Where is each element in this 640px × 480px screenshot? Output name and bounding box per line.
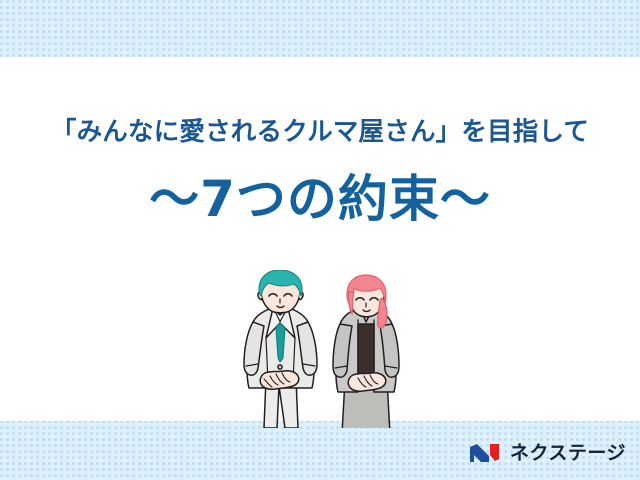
female-clasped-hands bbox=[348, 373, 386, 392]
staff-illustration-svg bbox=[236, 270, 416, 428]
two-bowing-staff-illustration bbox=[236, 270, 416, 428]
nexstage-n-logo-icon bbox=[469, 441, 503, 465]
brand-logo: ネクステージ bbox=[469, 440, 626, 466]
brand-wordmark-text: ネクステージ bbox=[510, 444, 626, 463]
headline-block: 「みんなに愛されるクルマ屋さん」を目指して 〜7つの約束〜 bbox=[0, 57, 640, 224]
headline-secondary-text: 〜7つの約束〜 bbox=[0, 174, 640, 224]
female-staff-figure bbox=[333, 275, 399, 428]
male-clasped-hands bbox=[260, 371, 299, 390]
promo-banner: 「みんなに愛されるクルマ屋さん」を目指して 〜7つの約束〜 bbox=[0, 0, 640, 480]
headline-primary-text: 「みんなに愛されるクルマ屋さん」を目指して bbox=[0, 120, 640, 146]
male-staff-figure bbox=[244, 270, 317, 428]
